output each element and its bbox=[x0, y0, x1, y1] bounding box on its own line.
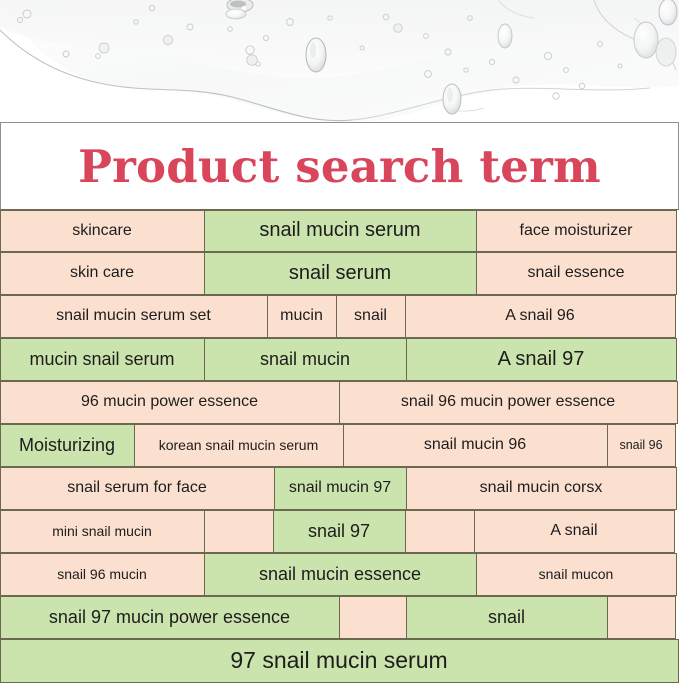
keyword-row: 96 mucin power essencesnail 96 mucin pow… bbox=[0, 381, 679, 424]
keyword-cell[interactable]: snail bbox=[336, 295, 406, 338]
keyword-row: snail mucin serum setmucinsnailA snail 9… bbox=[0, 295, 679, 338]
product-search-term-infographic: Product search term skincaresnail mucin … bbox=[0, 0, 679, 679]
title-band: Product search term bbox=[0, 122, 679, 210]
keyword-cell[interactable]: snail 96 mucin bbox=[0, 553, 205, 596]
keyword-cell[interactable]: 96 mucin power essence bbox=[0, 381, 340, 424]
keyword-cell[interactable]: mucin bbox=[267, 295, 337, 338]
keyword-cell[interactable]: snail mucin bbox=[204, 338, 407, 381]
keyword-cell[interactable]: snail mucin essence bbox=[204, 553, 477, 596]
keyword-grid: skincaresnail mucin serumface moisturize… bbox=[0, 210, 679, 683]
keyword-cell[interactable]: snail mucin serum bbox=[204, 210, 477, 252]
keyword-cell[interactable]: skin care bbox=[0, 252, 205, 295]
keyword-cell[interactable]: snail mucin 96 bbox=[343, 424, 608, 467]
keyword-cell[interactable]: snail 97 mucin power essence bbox=[0, 596, 340, 639]
keyword-cell[interactable]: mini snail mucin bbox=[0, 510, 205, 553]
keyword-cell[interactable]: A snail 97 bbox=[406, 338, 677, 381]
keyword-cell[interactable]: A snail 96 bbox=[405, 295, 676, 338]
keyword-row: mini snail mucinsnail 97A snail bbox=[0, 510, 679, 553]
keyword-cell[interactable]: snail mucin 97 bbox=[274, 467, 407, 510]
keyword-row: snail 97 mucin power essencesnail bbox=[0, 596, 679, 639]
keyword-cell[interactable]: snail essence bbox=[476, 252, 677, 295]
keyword-cell[interactable]: snail serum bbox=[204, 252, 477, 295]
keyword-cell[interactable]: snail 96 bbox=[607, 424, 676, 467]
keyword-cell[interactable]: skincare bbox=[0, 210, 205, 252]
keyword-cell-empty[interactable] bbox=[607, 596, 676, 639]
keyword-row: Moisturizingkorean snail mucin serumsnai… bbox=[0, 424, 679, 467]
keyword-cell-empty[interactable] bbox=[204, 510, 274, 553]
keyword-cell[interactable]: snail serum for face bbox=[0, 467, 275, 510]
keyword-cell[interactable]: snail 96 mucin power essence bbox=[339, 381, 678, 424]
keyword-cell[interactable]: 97 snail mucin serum bbox=[0, 639, 679, 683]
keyword-cell-empty[interactable] bbox=[405, 510, 475, 553]
keyword-cell[interactable]: snail bbox=[406, 596, 608, 639]
serum-gel-photo bbox=[0, 0, 679, 122]
keyword-row: skin caresnail serumsnail essence bbox=[0, 252, 679, 295]
keyword-cell[interactable]: face moisturizer bbox=[476, 210, 677, 252]
keyword-cell[interactable]: A snail bbox=[474, 510, 675, 553]
keyword-row: skincaresnail mucin serumface moisturize… bbox=[0, 210, 679, 252]
keyword-cell[interactable]: Moisturizing bbox=[0, 424, 135, 467]
keyword-row: mucin snail serumsnail mucinA snail 97 bbox=[0, 338, 679, 381]
page-title: Product search term bbox=[78, 144, 601, 189]
keyword-cell[interactable]: snail 97 bbox=[273, 510, 406, 553]
keyword-cell-empty[interactable] bbox=[339, 596, 407, 639]
keyword-cell[interactable]: korean snail mucin serum bbox=[134, 424, 344, 467]
keyword-cell[interactable]: snail mucon bbox=[476, 553, 677, 596]
keyword-cell[interactable]: snail mucin serum set bbox=[0, 295, 268, 338]
keyword-row: snail 96 mucinsnail mucin essencesnail m… bbox=[0, 553, 679, 596]
keyword-cell[interactable]: mucin snail serum bbox=[0, 338, 205, 381]
keyword-row: snail serum for facesnail mucin 97snail … bbox=[0, 467, 679, 510]
keyword-cell[interactable]: snail mucin corsx bbox=[406, 467, 677, 510]
keyword-row: 97 snail mucin serum bbox=[0, 639, 679, 683]
